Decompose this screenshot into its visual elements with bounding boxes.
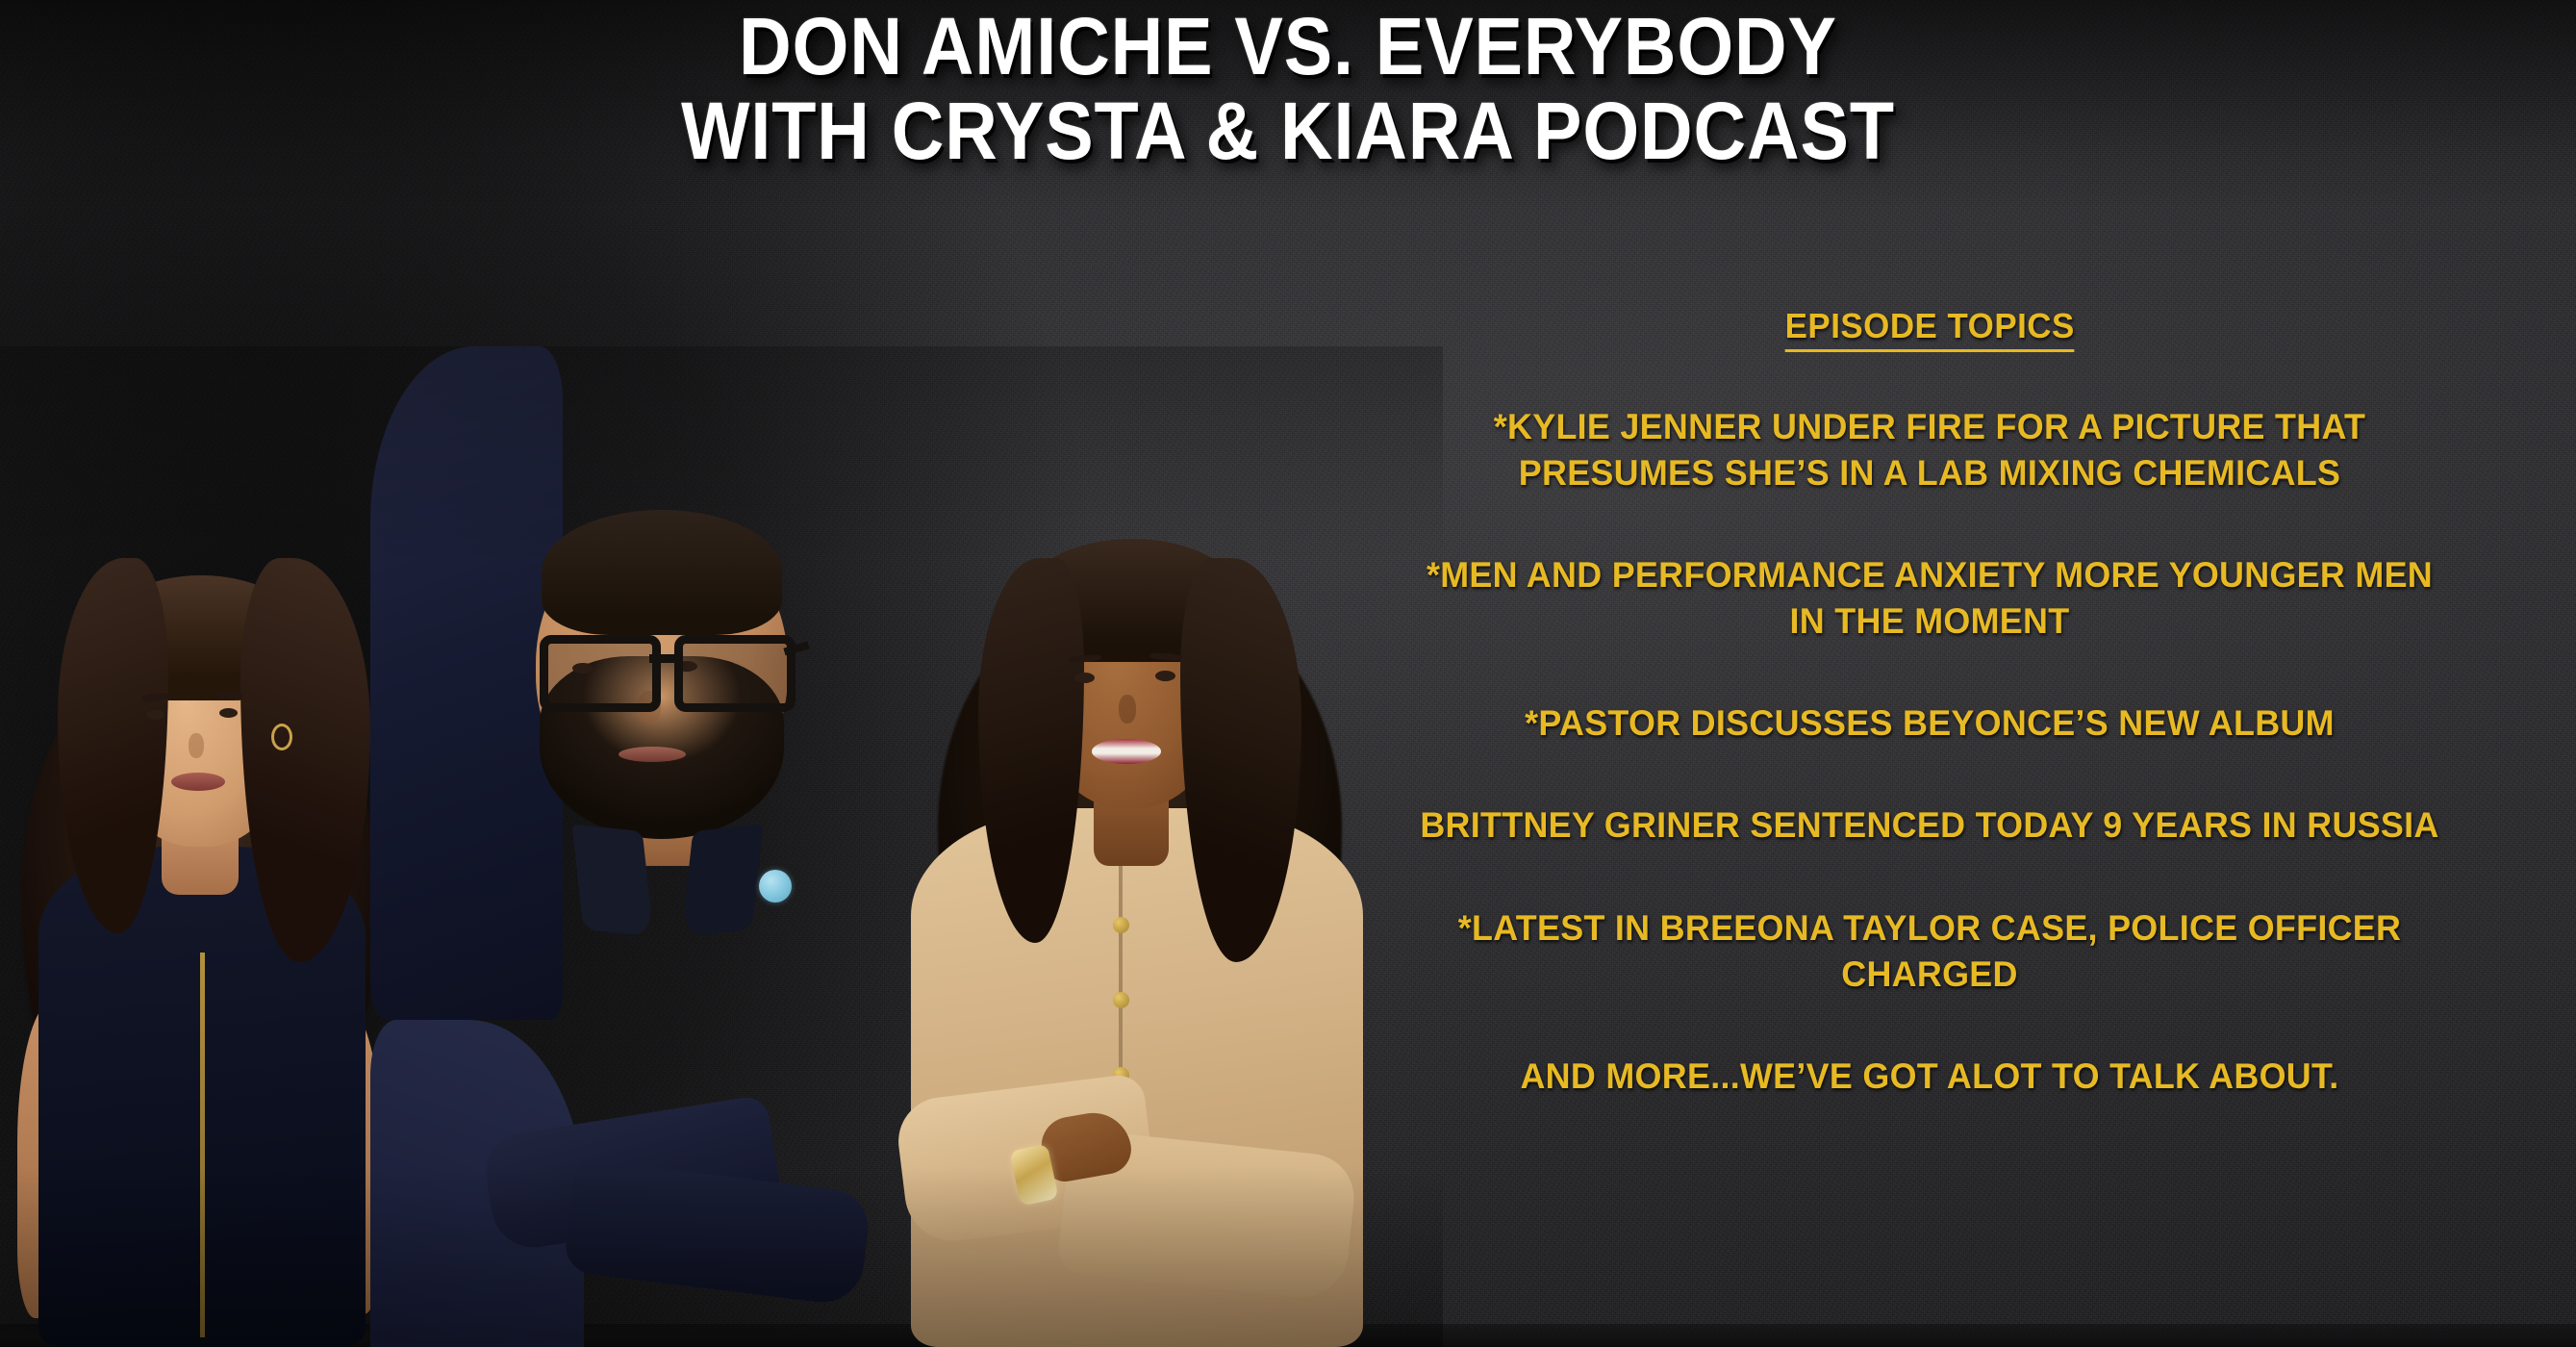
gold-zipper bbox=[200, 953, 205, 1337]
nose bbox=[1119, 695, 1136, 724]
smile bbox=[1092, 739, 1161, 764]
topic-item: *LATEST IN BREEONA TAYLOR CASE, POLICE O… bbox=[1388, 905, 2470, 998]
episode-topics-list: *KYLIE JENNER UNDER FIRE FOR A PICTURE T… bbox=[1372, 404, 2488, 1100]
host-photo-center-man bbox=[370, 346, 957, 1347]
topic-item: *KYLIE JENNER UNDER FIRE FOR A PICTURE T… bbox=[1388, 404, 2470, 496]
eye-right bbox=[1155, 671, 1175, 681]
collar-right bbox=[682, 825, 764, 937]
host-photo-left-woman bbox=[0, 385, 404, 1347]
topic-item: BRITTNEY GRINER SENTENCED TODAY 9 YEARS … bbox=[1388, 802, 2470, 849]
lapel-pin-icon bbox=[759, 870, 792, 902]
eye-left bbox=[146, 710, 164, 720]
topic-item: *PASTOR DISCUSSES BEYONCE’S NEW ALBUM bbox=[1388, 700, 2470, 747]
episode-topics-panel: EPISODE TOPICS *KYLIE JENNER UNDER FIRE … bbox=[1372, 306, 2488, 1100]
host-photo-right-woman bbox=[871, 375, 1409, 1347]
background-top-shade bbox=[0, 0, 2576, 212]
topic-item: *MEN AND PERFORMANCE ANXIETY MORE YOUNGE… bbox=[1388, 552, 2470, 645]
mouth bbox=[171, 773, 225, 791]
collar-left bbox=[572, 825, 654, 937]
podcast-episode-poster: DON AMICHE VS. EVERYBODY WITH CRYSTA & K… bbox=[0, 0, 2576, 1347]
eye-left bbox=[1074, 673, 1095, 683]
lens-right bbox=[674, 635, 796, 712]
gold-button bbox=[1113, 917, 1129, 933]
topic-item: AND MORE...WE’VE GOT ALOT TO TALK ABOUT. bbox=[1388, 1054, 2470, 1100]
hosts-photo bbox=[0, 346, 1433, 1347]
forearm-right bbox=[563, 1158, 872, 1308]
episode-topics-heading: EPISODE TOPICS bbox=[1784, 306, 2074, 352]
episode-topics-heading-wrap: EPISODE TOPICS bbox=[1372, 306, 2488, 352]
nose bbox=[189, 733, 204, 758]
hoop-earring-icon bbox=[271, 724, 292, 750]
lens-left bbox=[540, 635, 661, 712]
eyeglasses-icon bbox=[532, 635, 794, 697]
hair-top bbox=[542, 510, 782, 635]
mouth bbox=[619, 747, 686, 762]
eye-right bbox=[219, 708, 238, 718]
gold-button bbox=[1113, 992, 1129, 1008]
